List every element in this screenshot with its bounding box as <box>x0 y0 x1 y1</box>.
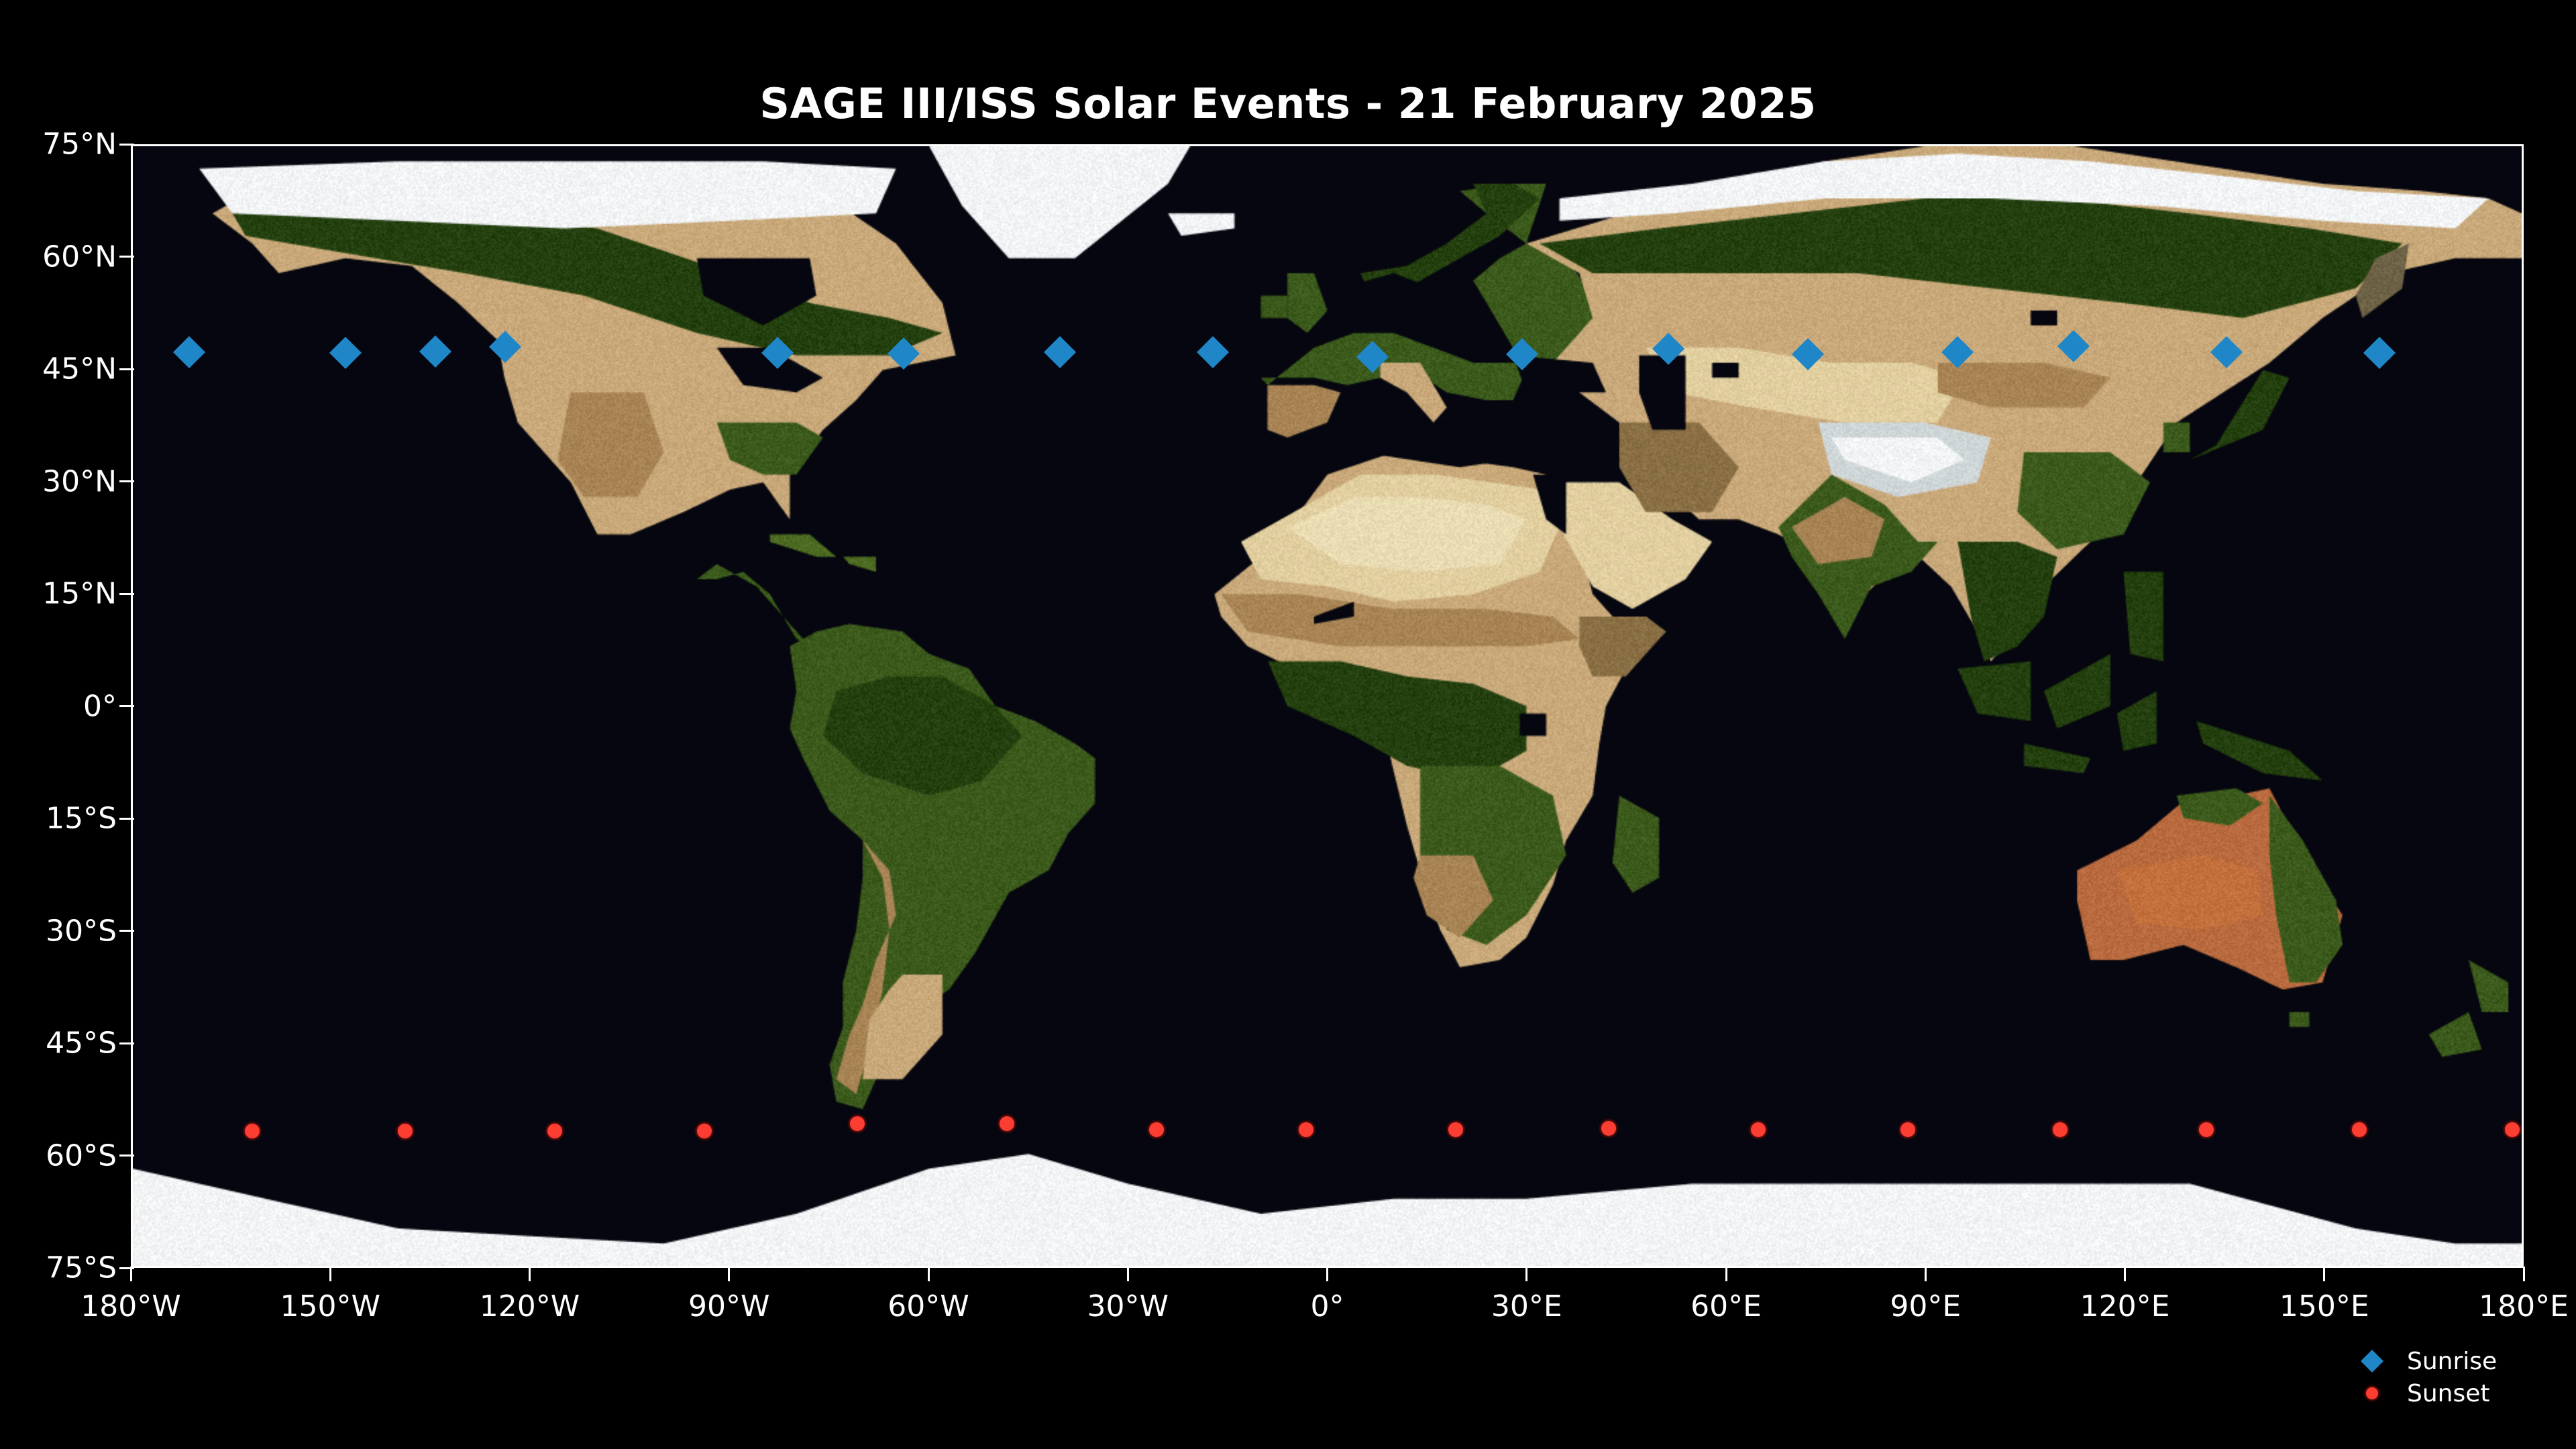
sunset-event-marker[interactable] <box>850 1116 865 1131</box>
legend: Sunrise Sunset <box>2348 1345 2569 1409</box>
latitude-tick <box>119 1155 134 1157</box>
legend-label-sunrise: Sunrise <box>2407 1348 2497 1375</box>
longitude-tick-label: 0° <box>1311 1289 1344 1324</box>
longitude-tick-label: 30°W <box>1087 1289 1169 1324</box>
longitude-tick-label: 90°E <box>1890 1289 1961 1324</box>
longitude-tick-label: 60°W <box>888 1289 969 1324</box>
longitude-tick <box>1326 1267 1328 1281</box>
latitude-tick <box>119 256 134 258</box>
longitude-tick-label: 30°E <box>1491 1289 1562 1324</box>
latitude-tick-label: 75°S <box>46 1251 117 1285</box>
longitude-tick-label: 150°E <box>2279 1289 2369 1324</box>
sunset-event-marker[interactable] <box>2352 1122 2367 1137</box>
sunset-event-marker[interactable] <box>1448 1122 1463 1137</box>
latitude-tick <box>119 930 134 932</box>
latitude-tick-label: 60°N <box>42 239 117 274</box>
latitude-tick-label: 45°S <box>46 1026 117 1061</box>
latitude-tick <box>119 368 134 370</box>
latitude-tick-label: 45°N <box>42 352 117 386</box>
longitude-tick <box>1127 1267 1129 1281</box>
longitude-tick-label: 90°W <box>688 1289 770 1324</box>
latitude-tick <box>119 1042 134 1044</box>
world-basemap-image <box>133 146 2522 1266</box>
latitude-tick <box>119 480 134 482</box>
sunset-event-marker[interactable] <box>398 1124 413 1138</box>
sunset-event-marker[interactable] <box>1299 1122 1313 1137</box>
legend-swatch-sunset <box>2348 1377 2396 1409</box>
longitude-tick-label: 180°W <box>80 1289 181 1324</box>
sunset-event-marker[interactable] <box>547 1124 562 1138</box>
longitude-tick <box>130 1267 132 1281</box>
latitude-tick <box>119 705 134 707</box>
latitude-tick-label: 15°N <box>42 577 117 611</box>
legend-swatch-sunrise <box>2348 1345 2396 1377</box>
sunset-event-marker[interactable] <box>697 1124 712 1138</box>
longitude-tick-label: 120°W <box>480 1289 580 1324</box>
longitude-tick <box>1525 1267 1527 1281</box>
longitude-tick <box>728 1267 730 1281</box>
diamond-marker-icon <box>2361 1350 2383 1373</box>
legend-item-sunrise[interactable]: Sunrise <box>2348 1345 2569 1377</box>
latitude-tick <box>119 818 134 820</box>
sunset-event-marker[interactable] <box>1900 1122 1915 1137</box>
latitude-tick-label: 60°S <box>46 1138 117 1173</box>
longitude-tick <box>928 1267 930 1281</box>
longitude-tick <box>1925 1267 1927 1281</box>
longitude-tick-label: 120°E <box>2080 1289 2170 1324</box>
sunset-event-marker[interactable] <box>1000 1116 1014 1131</box>
longitude-tick <box>2323 1267 2325 1281</box>
circle-marker-icon <box>2366 1387 2378 1399</box>
longitude-tick-label: 180°E <box>2479 1289 2569 1324</box>
legend-item-sunset[interactable]: Sunset <box>2348 1377 2569 1409</box>
sunset-event-marker[interactable] <box>1751 1122 1766 1137</box>
latitude-tick-label: 30°S <box>46 914 117 948</box>
longitude-tick <box>1725 1267 1727 1281</box>
sunset-event-marker[interactable] <box>2053 1122 2068 1137</box>
longitude-tick <box>529 1267 531 1281</box>
sunset-event-marker[interactable] <box>1601 1121 1616 1136</box>
latitude-tick-label: 15°S <box>46 802 117 836</box>
sunset-event-marker[interactable] <box>2199 1122 2214 1137</box>
latitude-tick <box>119 144 134 146</box>
latitude-tick-label: 0° <box>83 689 117 723</box>
sunset-event-marker[interactable] <box>1149 1122 1164 1137</box>
longitude-tick-label: 150°W <box>280 1289 381 1324</box>
latitude-tick-label: 75°N <box>42 127 117 162</box>
map-plot-area[interactable] <box>131 144 2524 1268</box>
sunset-event-marker[interactable] <box>2505 1122 2520 1137</box>
longitude-tick <box>2124 1267 2126 1281</box>
sunset-event-marker[interactable] <box>245 1124 260 1138</box>
latitude-tick <box>119 1267 134 1269</box>
legend-label-sunset: Sunset <box>2407 1380 2490 1407</box>
longitude-tick <box>2523 1267 2525 1281</box>
page-title: SAGE III/ISS Solar Events - 21 February … <box>0 79 2576 128</box>
latitude-tick <box>119 593 134 595</box>
latitude-tick-label: 30°N <box>42 464 117 498</box>
longitude-tick <box>329 1267 331 1281</box>
longitude-tick-label: 60°E <box>1690 1289 1762 1324</box>
